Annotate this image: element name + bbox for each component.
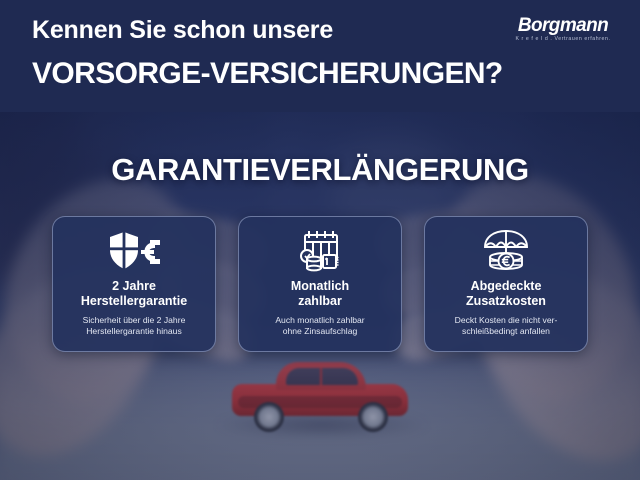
feature-card-title-line-2: zahlbar [291,294,349,309]
red-toy-car [232,362,408,424]
feature-card-zusatzkosten[interactable]: Abgedeckte Zusatzkosten Deckt Kosten die… [424,216,588,352]
feature-card-title-line-1: 2 Jahre [81,279,187,294]
feature-card-subtitle-line-2: schleißbedingt anfallen [455,326,558,338]
shield-euro-icon [106,228,162,274]
feature-card-title-line-1: Monatlich [291,279,349,294]
feature-card-subtitle-line-2: Herstellergarantie hinaus [83,326,186,338]
insurance-promo-banner: Kennen Sie schon unsere VORSORGE-VERSICH… [0,0,640,480]
feature-card-title: Monatlich zahlbar [291,279,349,310]
feature-card-subtitle: Auch monatlich zahlbar ohne Zinsaufschla… [275,315,364,338]
calendar-coins-icon [294,228,346,274]
feature-card-title: Abgedeckte Zusatzkosten [466,279,546,310]
feature-card-title-line-2: Herstellergarantie [81,294,187,309]
feature-card-subtitle-line-1: Sicherheit über die 2 Jahre [83,315,186,327]
car-rear-wheel [254,402,284,432]
feature-card-title-line-1: Abgedeckte [466,279,546,294]
feature-card-subtitle-line-1: Auch monatlich zahlbar [275,315,364,327]
feature-card-subtitle: Sicherheit über die 2 Jahre Herstellerga… [83,315,186,338]
page-title: GARANTIEVERLÄNGERUNG [0,152,640,188]
logo-wordmark: Borgmann [504,16,622,35]
car-front-wheel [358,402,388,432]
feature-card-herstellergarantie[interactable]: 2 Jahre Herstellergarantie Sicherheit üb… [52,216,216,352]
headline-line-1: Kennen Sie schon unsere [32,16,333,45]
feature-card-list: 2 Jahre Herstellergarantie Sicherheit üb… [0,216,640,356]
feature-card-subtitle: Deckt Kosten die nicht ver- schleißbedin… [455,315,558,338]
car-window [286,368,358,385]
feature-card-subtitle-line-2: ohne Zinsaufschlag [275,326,364,338]
feature-card-subtitle-line-1: Deckt Kosten die nicht ver- [455,315,558,327]
headline-line-2: VORSORGE-VERSICHERUNGEN? [32,57,503,91]
header-bar: Kennen Sie schon unsere VORSORGE-VERSICH… [0,0,640,112]
logo-tagline: K r e f e l d . Vertrauen erfahren. [504,37,622,42]
feature-card-monatlich-zahlbar[interactable]: Monatlich zahlbar Auch monatlich zahlbar… [238,216,402,352]
car-window-divider [320,368,322,385]
feature-card-title: 2 Jahre Herstellergarantie [81,279,187,310]
feature-card-title-line-2: Zusatzkosten [466,294,546,309]
umbrella-coins-euro-icon [475,228,537,274]
borgmann-logo[interactable]: Borgmann K r e f e l d . Vertrauen erfah… [504,16,622,42]
